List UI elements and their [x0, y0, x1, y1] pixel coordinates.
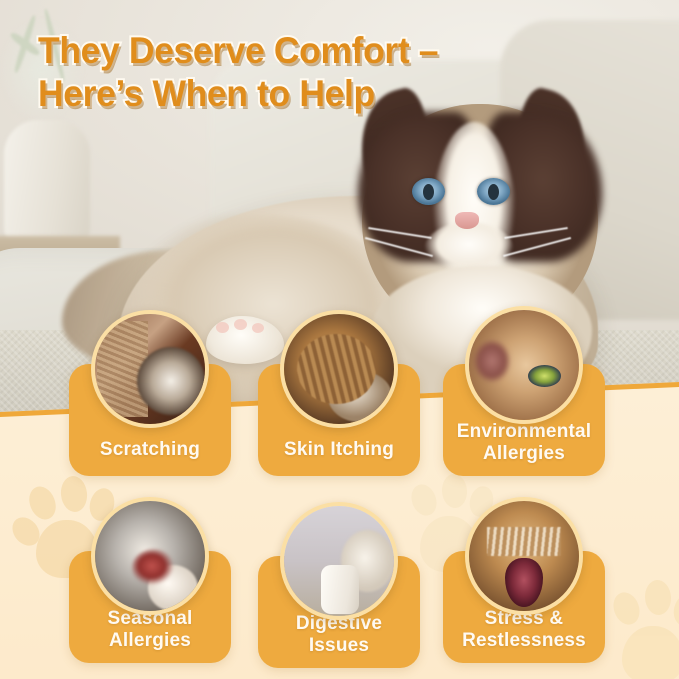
thumbnail-seasonal-allergies[interactable]	[91, 497, 209, 615]
cat-scratching-furniture-icon	[95, 314, 205, 424]
cat-nose	[455, 212, 479, 229]
headline-line-1: They Deserve Comfort –	[38, 30, 614, 73]
tabby-cat-itching-icon	[284, 314, 394, 424]
card-label-skin-itching: Skin Itching	[276, 439, 402, 476]
vase	[4, 120, 90, 250]
thumbnail-scratching[interactable]	[91, 310, 209, 428]
pawprint-icon-bottom-right	[600, 576, 679, 679]
page-title: They Deserve Comfort – Here’s When to He…	[38, 30, 614, 116]
cat-toilet-paper-icon	[284, 506, 394, 616]
ginger-cat-skin-irritation-icon	[469, 310, 579, 420]
card-label-line2: Allergies	[109, 630, 191, 651]
card-label-stress-restlessness: Stress & Restlessness	[454, 608, 594, 663]
card-label-scratching: Scratching	[92, 439, 208, 476]
card-label-environmental-allergies: Environmental Allergies	[449, 421, 600, 476]
thumbnail-skin-itching[interactable]	[280, 310, 398, 428]
cat-comfort-poster: Scratching Skin Itching Environmental Al…	[0, 0, 679, 679]
ragdoll-cat-red-eye-icon	[95, 501, 205, 611]
card-label-line2: Allergies	[483, 443, 565, 464]
thumbnail-stress-restlessness[interactable]	[465, 497, 583, 615]
card-label-line1: Environmental	[457, 421, 592, 442]
cat-eye-left	[412, 178, 445, 205]
thumbnail-environmental-allergies[interactable]	[465, 306, 583, 424]
headline-line-2: Here’s When to Help	[38, 73, 614, 116]
hissing-cat-icon	[469, 501, 579, 611]
cat-eye-right	[477, 178, 510, 205]
thumbnail-digestive-issues[interactable]	[280, 502, 398, 620]
card-label-digestive-issues: Digestive Issues	[288, 613, 390, 668]
card-label-line2: Restlessness	[462, 630, 586, 651]
card-label-seasonal-allergies: Seasonal Allergies	[99, 608, 200, 663]
card-label-line2: Issues	[309, 635, 369, 656]
